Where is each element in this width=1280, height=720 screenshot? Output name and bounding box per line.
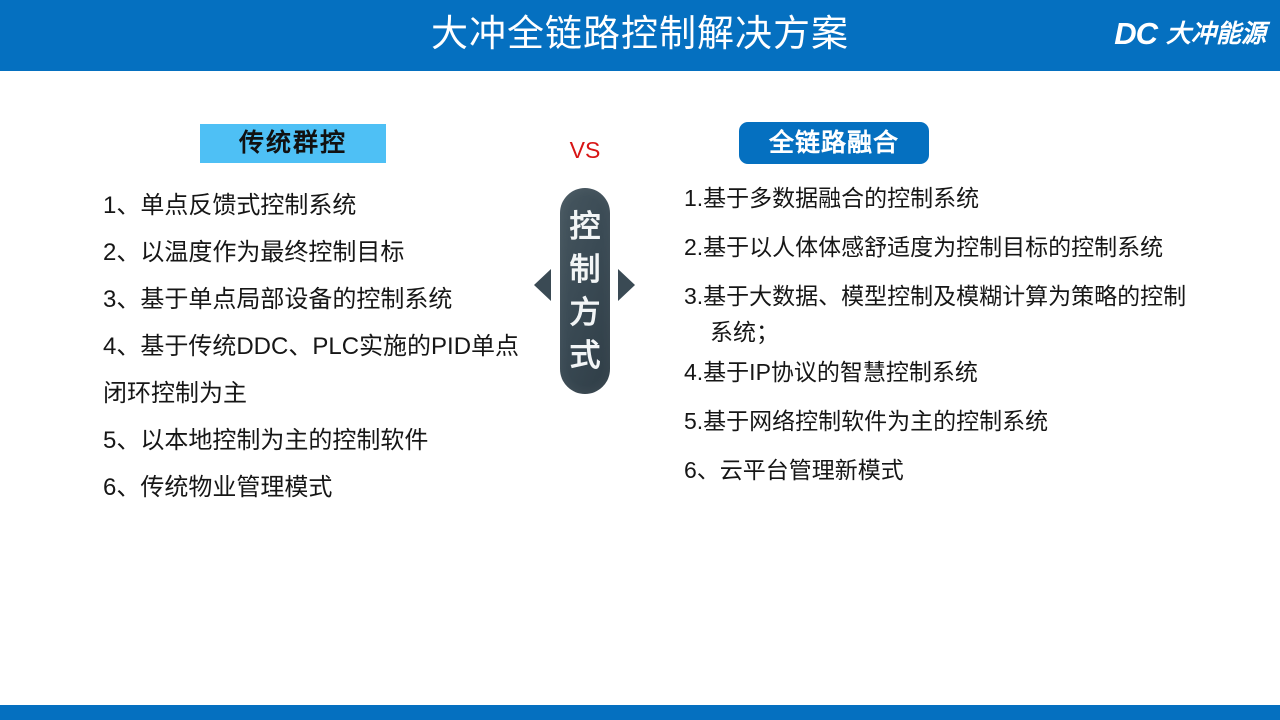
vs-label: VS xyxy=(555,136,615,164)
logo-company-name: 大冲能源 xyxy=(1166,17,1266,51)
pill-char-4: 式 xyxy=(570,334,601,377)
list-item: 3.基于大数据、模型控制及模糊计算为策略的控制 系统； xyxy=(684,278,1280,350)
list-item: 3、基于单点局部设备的控制系统 xyxy=(103,276,543,323)
right-column-heading: 全链路融合 xyxy=(739,122,929,164)
list-item-text: 6、云平台管理新模式 xyxy=(684,457,904,483)
left-column-heading: 传统群控 xyxy=(200,124,386,163)
list-item-text: 4.基于IP协议的智慧控制系统 xyxy=(684,359,978,385)
list-item: 1、单点反馈式控制系统 xyxy=(103,182,543,229)
list-item: 5.基于网络控制软件为主的控制系统 xyxy=(684,403,1280,439)
right-column-list: 1.基于多数据融合的控制系统 2.基于以人体体感舒适度为控制目标的控制系统 3.… xyxy=(684,180,1280,501)
list-item: 4、基于传统DDC、PLC实施的PID单点闭环控制为主 xyxy=(103,323,543,417)
control-method-divider: 控 制 方 式 xyxy=(528,188,646,394)
brand-logo: DC 大冲能源 xyxy=(1114,17,1266,51)
list-item: 2.基于以人体体感舒适度为控制目标的控制系统 xyxy=(684,229,1280,265)
list-item: 5、以本地控制为主的控制软件 xyxy=(103,417,543,464)
logo-mark-dc: DC xyxy=(1114,17,1157,51)
list-item-continuation: 系统； xyxy=(684,314,1280,350)
list-item-text: 3.基于大数据、模型控制及模糊计算为策略的控制 xyxy=(684,283,1186,309)
list-item: 6、传统物业管理模式 xyxy=(103,464,543,511)
list-item: 1.基于多数据融合的控制系统 xyxy=(684,180,1280,216)
list-item-text: 2.基于以人体体感舒适度为控制目标的控制系统 xyxy=(684,234,1163,260)
control-method-pill: 控 制 方 式 xyxy=(560,188,610,394)
list-item: 2、以温度作为最终控制目标 xyxy=(103,229,543,276)
left-column-list: 1、单点反馈式控制系统 2、以温度作为最终控制目标 3、基于单点局部设备的控制系… xyxy=(103,182,543,511)
list-item: 6、云平台管理新模式 xyxy=(684,452,1280,488)
control-method-pill-text: 控 制 方 式 xyxy=(560,188,610,394)
list-item: 4.基于IP协议的智慧控制系统 xyxy=(684,354,1280,390)
list-item-text: 5.基于网络控制软件为主的控制系统 xyxy=(684,408,1048,434)
slide: 大冲全链路控制解决方案 DC 大冲能源 传统群控 全链路融合 VS 控 制 方 … xyxy=(0,0,1280,720)
pill-char-3: 方 xyxy=(570,291,601,334)
footer-bar xyxy=(0,705,1280,720)
arrow-right-icon xyxy=(618,269,635,301)
list-item-text: 1.基于多数据融合的控制系统 xyxy=(684,185,979,211)
page-title: 大冲全链路控制解决方案 xyxy=(0,8,1280,60)
pill-char-2: 制 xyxy=(570,248,601,291)
pill-char-1: 控 xyxy=(570,205,601,248)
